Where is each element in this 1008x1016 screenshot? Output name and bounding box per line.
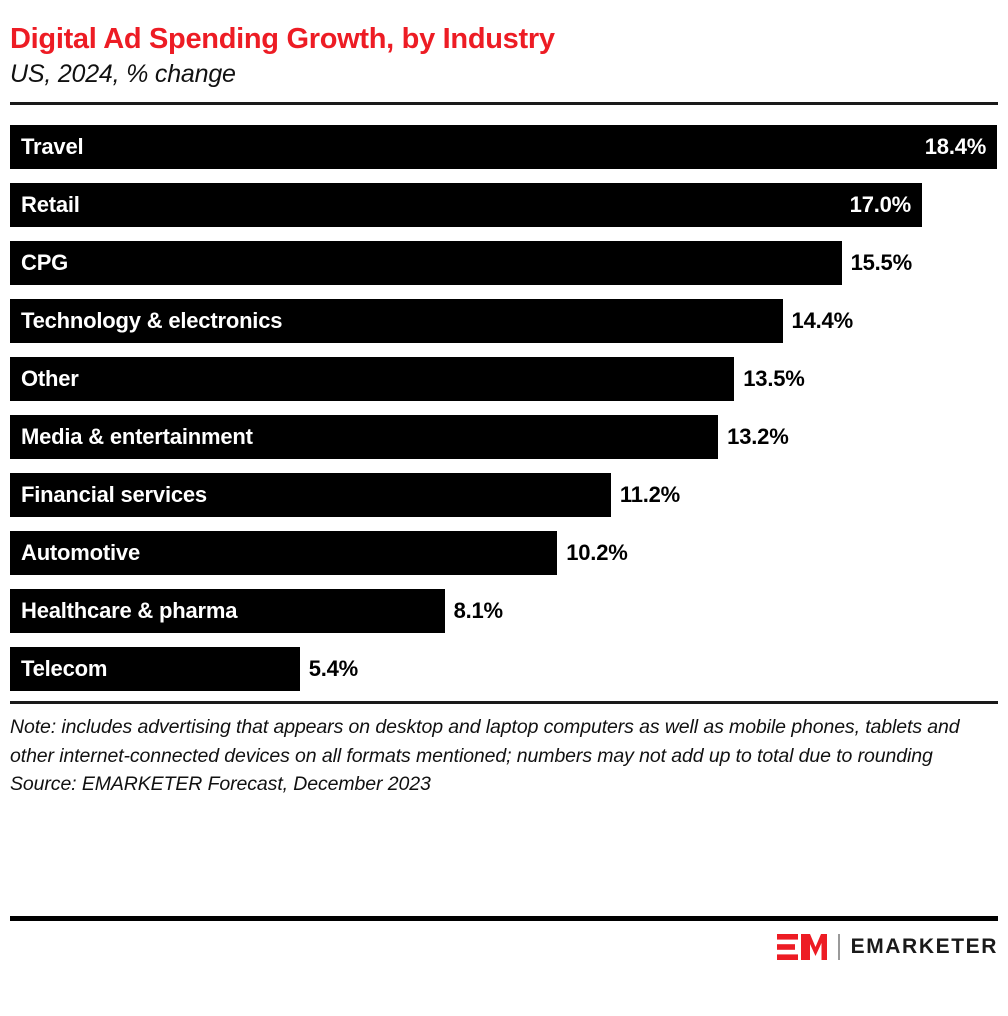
- bar-category-label: CPG: [10, 250, 68, 276]
- bar: Other: [10, 357, 734, 401]
- bar-category-label: Technology & electronics: [10, 308, 282, 334]
- em-logo-icon: [777, 934, 827, 960]
- bar-value-label: 17.0%: [850, 192, 922, 218]
- bar: Technology & electronics: [10, 299, 783, 343]
- bar-value-label: 13.2%: [727, 424, 788, 450]
- bar-category-label: Healthcare & pharma: [10, 598, 237, 624]
- bar-row: Media & entertainment13.2%: [10, 415, 998, 459]
- bar-chart: Travel18.4%Retail17.0%CPG15.5%Technology…: [10, 125, 998, 693]
- bar-row: Automotive10.2%: [10, 531, 998, 575]
- bar: Financial services: [10, 473, 611, 517]
- bar-value-label: 13.5%: [743, 366, 804, 392]
- logo-divider: [838, 934, 840, 960]
- chart-source: Source: EMARKETER Forecast, December 202…: [10, 770, 998, 798]
- bar: Healthcare & pharma: [10, 589, 445, 633]
- bar-category-label: Automotive: [10, 540, 140, 566]
- bar-category-label: Travel: [10, 134, 83, 160]
- bar-category-label: Telecom: [10, 656, 107, 682]
- chart-subtitle: US, 2024, % change: [10, 58, 998, 90]
- bar-row: Retail17.0%: [10, 183, 998, 227]
- bar-row: Financial services11.2%: [10, 473, 998, 517]
- chart-note: Note: includes advertising that appears …: [10, 713, 982, 770]
- header-divider: [10, 102, 998, 105]
- emarketer-logo: EMARKETER: [777, 931, 998, 963]
- bar-row: Other13.5%: [10, 357, 998, 401]
- bar-category-label: Financial services: [10, 482, 207, 508]
- bar-row: Telecom5.4%: [10, 647, 998, 691]
- bar: Telecom: [10, 647, 300, 691]
- bar: Automotive: [10, 531, 557, 575]
- bar-row: CPG15.5%: [10, 241, 998, 285]
- logo-wordmark: EMARKETER: [851, 935, 998, 959]
- bar: Travel18.4%: [10, 125, 997, 169]
- bar-value-label: 11.2%: [620, 482, 680, 508]
- bar-category-label: Other: [10, 366, 79, 392]
- footer-divider: [10, 701, 998, 704]
- bar-category-label: Retail: [10, 192, 80, 218]
- bar-value-label: 5.4%: [309, 656, 358, 682]
- bottom-rule: [10, 916, 998, 921]
- bar: Retail17.0%: [10, 183, 922, 227]
- bar-category-label: Media & entertainment: [10, 424, 253, 450]
- bar-row: Travel18.4%: [10, 125, 998, 169]
- chart-page: Digital Ad Spending Growth, by Industry …: [0, 0, 1008, 1016]
- bar-value-label: 18.4%: [925, 134, 997, 160]
- chart-header: Digital Ad Spending Growth, by Industry …: [10, 0, 998, 90]
- bar-value-label: 15.5%: [851, 250, 912, 276]
- bar-value-label: 8.1%: [454, 598, 503, 624]
- bar-value-label: 10.2%: [566, 540, 627, 566]
- bar: Media & entertainment: [10, 415, 718, 459]
- bar: CPG: [10, 241, 842, 285]
- bar-row: Healthcare & pharma8.1%: [10, 589, 998, 633]
- bar-row: Technology & electronics14.4%: [10, 299, 998, 343]
- page-title: Digital Ad Spending Growth, by Industry: [10, 22, 998, 56]
- bar-value-label: 14.4%: [792, 308, 853, 334]
